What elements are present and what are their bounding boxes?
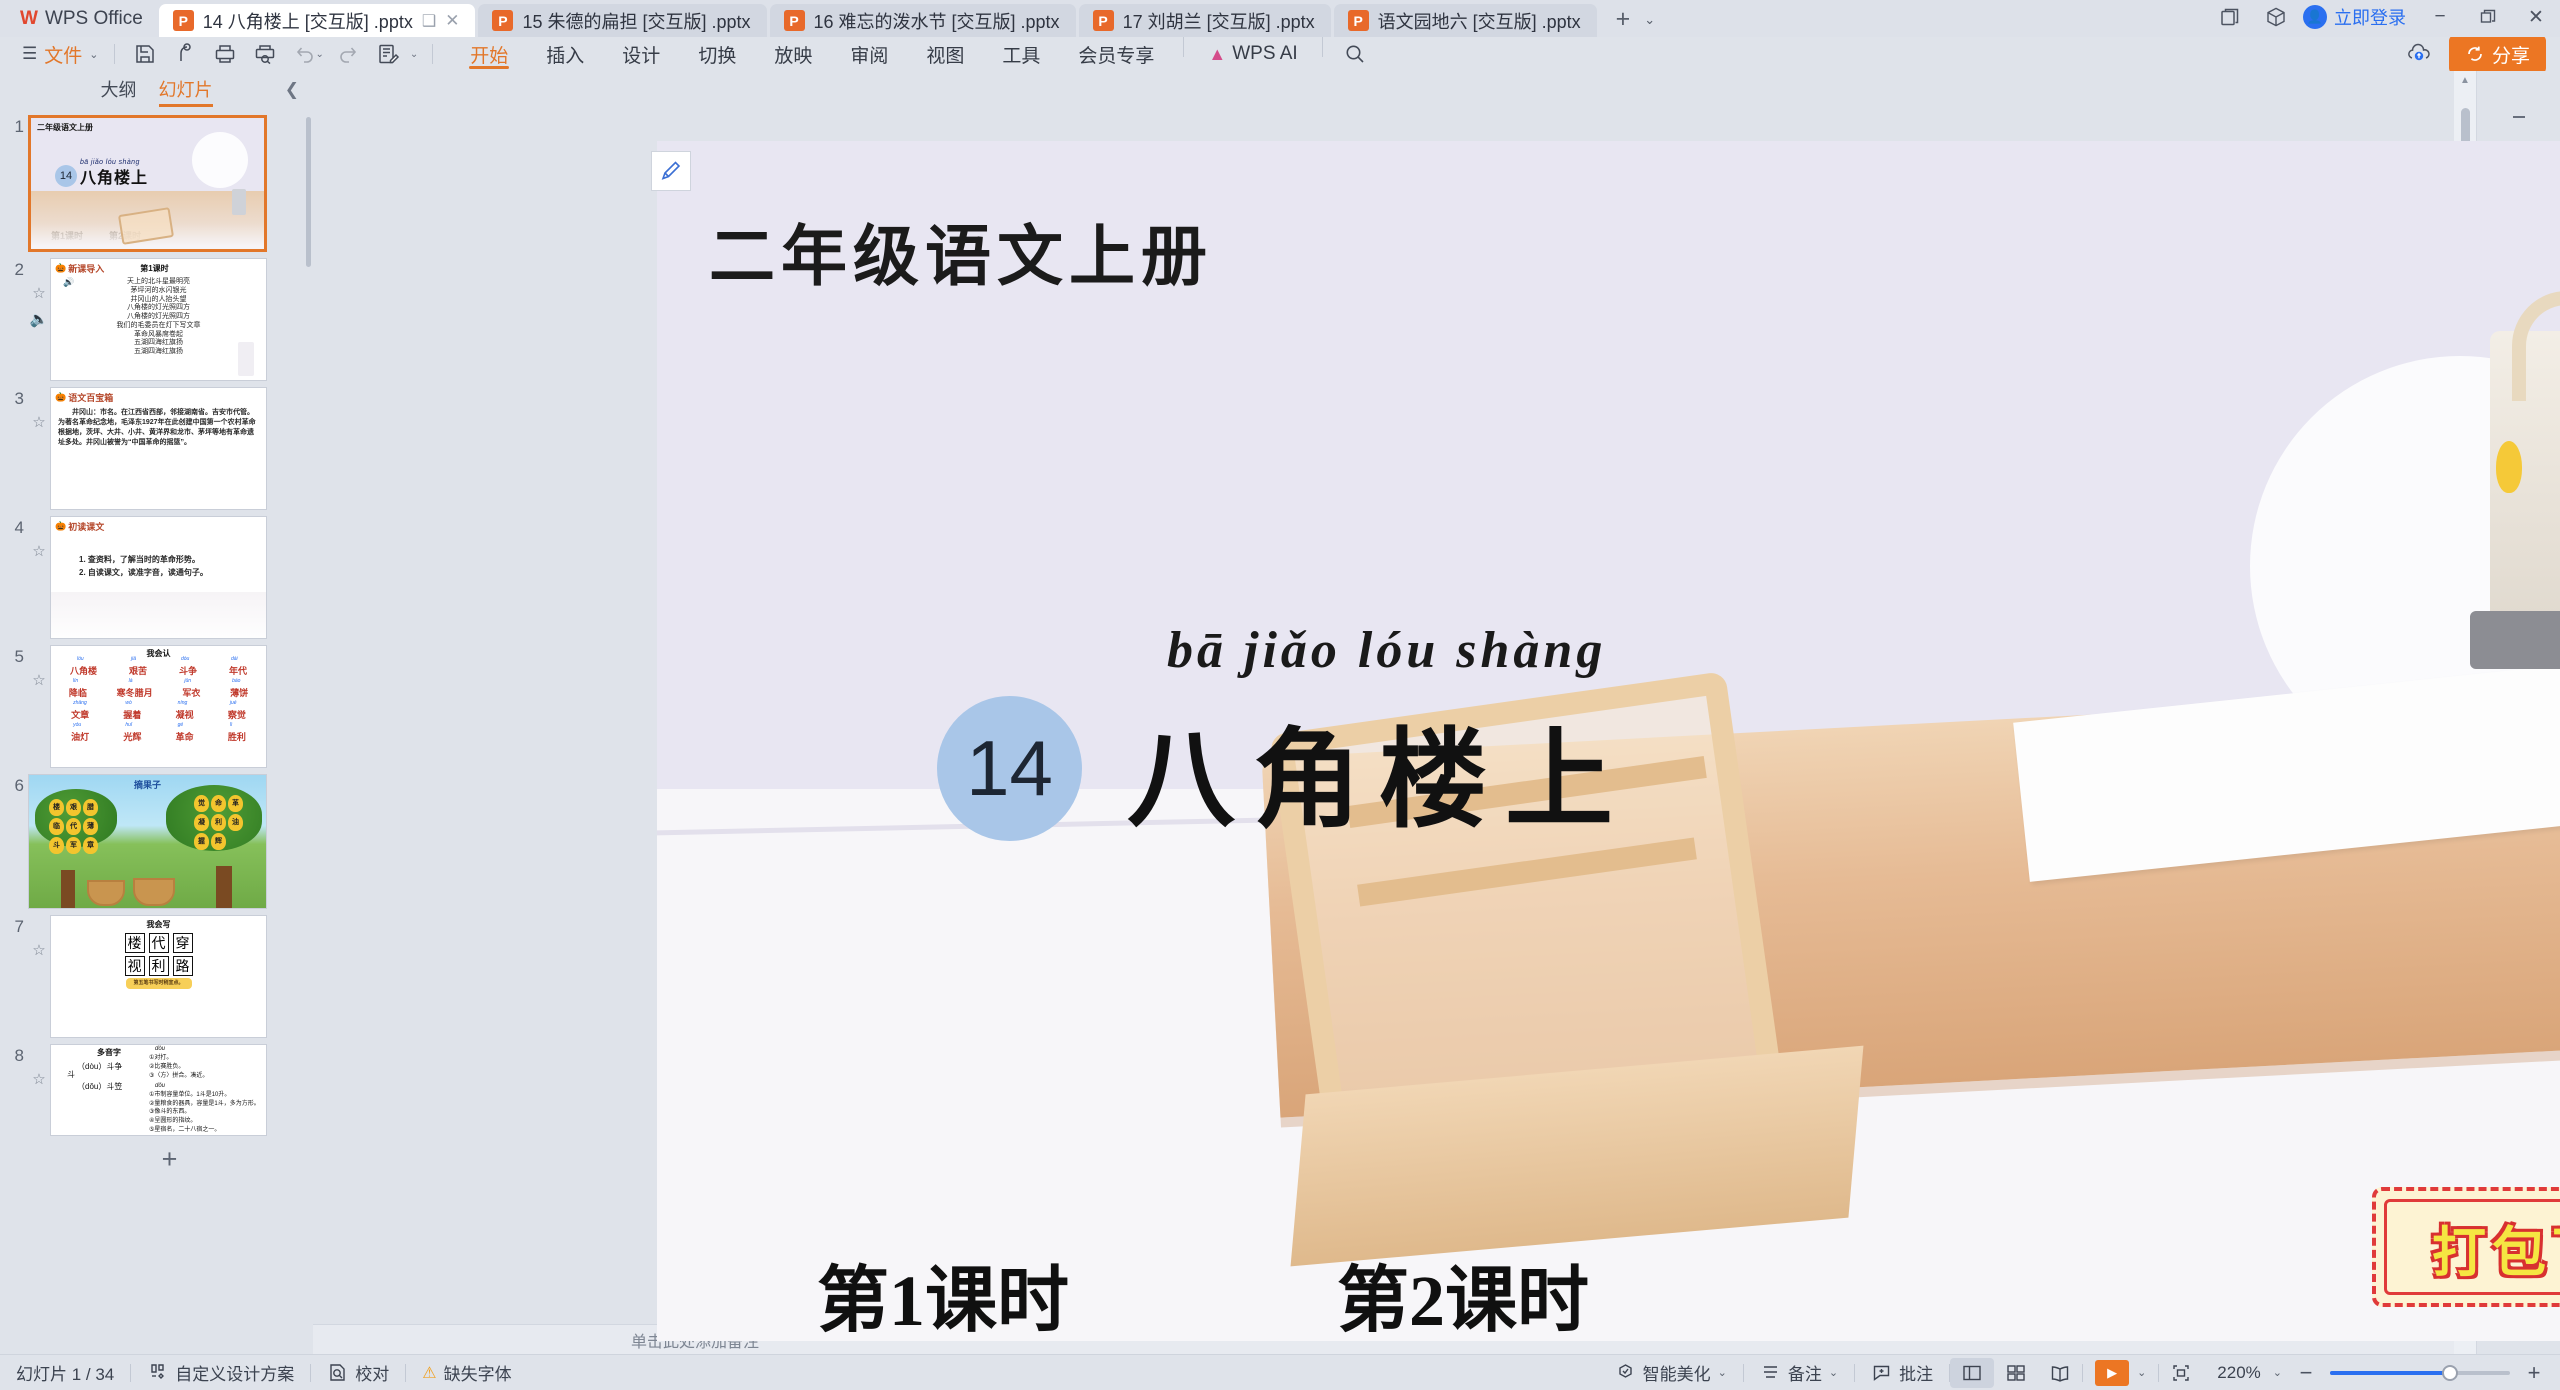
wps-presentation-window: W WPS Office P 14 八角楼上 [交互版] .pptx ❑ ✕ P… xyxy=(0,0,2560,1390)
tab-review[interactable]: 审阅 xyxy=(831,37,907,71)
slide-thumbnail-3[interactable]: 🎃 语文百宝箱 井冈山：市名。在江西省西部，邻接湖南省。吉安市代管。为著名革命纪… xyxy=(50,387,267,510)
lyric-line: 五湖四海红旗扬 xyxy=(55,348,262,357)
chevron-down-icon: ⌄ xyxy=(89,48,98,61)
animation-star-icon[interactable]: ☆ xyxy=(32,941,45,959)
word: 察觉 xyxy=(228,710,246,720)
word: 年代 xyxy=(229,666,247,676)
audio-icon[interactable]: 🔊 xyxy=(63,277,74,288)
fruit[interactable]: 艰 xyxy=(66,799,81,816)
pinyin: gé xyxy=(178,722,184,728)
new-tab-icon[interactable]: + xyxy=(1616,7,1631,32)
def-line: ①对打。 xyxy=(149,1054,208,1063)
reading-view-icon xyxy=(2049,1362,2071,1384)
pinyin: lì xyxy=(230,722,233,728)
notes-icon xyxy=(1760,1362,1781,1383)
share-button[interactable]: 分享 xyxy=(2449,35,2546,74)
slide-number: 7 xyxy=(0,915,28,937)
pinyin: yóu xyxy=(73,722,81,728)
zoom-out-button[interactable]: − xyxy=(2294,1360,2318,1386)
fruit[interactable]: 命 xyxy=(211,795,226,812)
lamp-illustration xyxy=(232,189,246,215)
polyphone-base: 斗 xyxy=(67,1069,75,1080)
audio-icon[interactable]: 🔈 xyxy=(30,310,49,328)
fruit[interactable]: 革 xyxy=(228,795,243,812)
proofread-label: 校对 xyxy=(355,1360,389,1385)
polyphone-reading-2: （dǒu）斗笠 xyxy=(77,1081,122,1092)
word: 握着 xyxy=(123,710,141,720)
ink-pen-icon[interactable] xyxy=(651,151,691,191)
edit-mode-icon[interactable] xyxy=(368,37,408,71)
slide-markers: ☆ xyxy=(28,645,50,689)
save-icon[interactable] xyxy=(125,37,165,71)
list-item[interactable]: 5 ☆ 我会认 lóu八角楼 jiā艰苦 xyxy=(0,645,313,768)
pinyin: jué xyxy=(230,700,237,706)
pinyin: dòu xyxy=(181,656,189,662)
document-tab-5[interactable]: P 语文园地六 [交互版] .pptx xyxy=(1334,4,1597,37)
design-scheme-icon xyxy=(147,1362,168,1383)
slide-thumbnail-2[interactable]: 🎃 新课导入 第1课时 🔊 天上的北斗星最明亮 茅坪河的水闪银光 井冈山的人抬头… xyxy=(50,258,267,381)
fruit[interactable]: 代 xyxy=(66,818,81,835)
tab-slideshow[interactable]: 放映 xyxy=(755,37,831,71)
slide-markers: ☆ xyxy=(28,915,50,959)
lamp-handle xyxy=(2512,291,2560,401)
thumb-header: 新课导入 xyxy=(68,262,104,275)
pinyin: jiā xyxy=(131,656,136,662)
document-tab-4[interactable]: P 17 刘胡兰 [交互版] .pptx xyxy=(1079,4,1331,37)
lyric-line: 八角楼的灯光照四方 xyxy=(55,313,262,322)
document-tab-2[interactable]: P 15 朱德的扁担 [交互版] .pptx xyxy=(478,4,766,37)
comment-label: 批注 xyxy=(1899,1360,1933,1385)
slide-markers: ☆ xyxy=(28,516,50,560)
slide-lesson2-button[interactable]: 第2课时 xyxy=(1337,1241,1589,1341)
fit-to-window-icon xyxy=(2170,1362,2192,1384)
slide-pinyin-text[interactable]: bā jiǎo lóu shàng xyxy=(1167,621,1606,680)
word: 革命 xyxy=(176,732,194,742)
pinyin: jūn xyxy=(184,678,191,684)
slide-thumbnail-6[interactable]: 摘果子 楼 艰 腊 临 代 薄 斗 xyxy=(28,774,267,909)
avatar-icon: 👤 xyxy=(2303,5,2327,29)
status-bar-right: 智能美化 ⌄ 备注 ⌄ 批注 xyxy=(1599,1358,2560,1388)
close-window-button[interactable]: ✕ xyxy=(2512,0,2560,34)
tab-transition[interactable]: 切换 xyxy=(679,37,755,71)
pinyin: dài xyxy=(231,656,238,662)
cloud-upload-icon[interactable] xyxy=(2399,37,2439,71)
powerpoint-icon: P xyxy=(1093,10,1114,31)
chevron-down-icon[interactable]: ⌄ xyxy=(1718,1366,1727,1379)
workspace: 大纲 幻灯片 ❮ 1 二年级语文上册 14 bā jiǎ xyxy=(0,71,2560,1354)
play-slideshow-button[interactable]: ▶ xyxy=(2095,1360,2129,1386)
minimize-window-button[interactable]: − xyxy=(2416,0,2464,34)
document-tab-label: 17 刘胡兰 [交互版] .pptx xyxy=(1123,8,1315,34)
def-line: ③像斗的东西。 xyxy=(149,1108,260,1117)
fruit[interactable]: 觉 xyxy=(194,795,209,812)
comment-add-icon xyxy=(1871,1362,1892,1383)
thumb-header: 二年级语文上册 xyxy=(37,122,93,133)
fruit-group-right: 觉 命 革 凝 利 油 握 辉 xyxy=(194,795,254,850)
powerpoint-icon: P xyxy=(492,10,513,31)
thumb-header: 我会写 xyxy=(55,919,262,930)
slide-thumbnail-4[interactable]: 🎃 初读课文 1. 查资料，了解当时的革命形势。 2. 自读课文，读准字音，读通… xyxy=(50,516,267,639)
collapse-rail-icon[interactable] xyxy=(2491,89,2547,145)
slide-counter: 幻灯片 1 / 34 xyxy=(0,1360,130,1385)
animation-star-icon[interactable]: ☆ xyxy=(32,284,45,302)
slide-number: 4 xyxy=(0,516,28,538)
slides-thumbnail-list[interactable]: 1 二年级语文上册 14 bā jiǎo lóu shàng 八角楼上 第1课时… xyxy=(0,111,313,1354)
slides-panel: 大纲 幻灯片 ❮ 1 二年级语文上册 14 bā jiǎ xyxy=(0,71,313,1354)
thumb-list-item: 1. 查资料，了解当时的革命形势。 xyxy=(79,555,262,565)
ribbon-bar: ☰ 文件 ⌄ xyxy=(0,37,2560,71)
lyric-line: 革命风暴席卷起 xyxy=(55,331,262,340)
tab-start[interactable]: 开始 xyxy=(451,37,527,71)
pinyin: wò xyxy=(125,700,131,706)
pinyin: níng xyxy=(178,700,188,706)
quick-access-toolbar: ☰ 文件 ⌄ xyxy=(0,37,443,71)
fruit-group-left: 楼 艰 腊 临 代 薄 斗 军 章 xyxy=(49,799,109,854)
slide-thumbnail-7[interactable]: 我会写 楼 代 穿 视 利 路 xyxy=(50,915,267,1038)
redo-icon[interactable] xyxy=(328,37,368,71)
close-tab-icon[interactable]: ✕ xyxy=(445,11,459,31)
thumb-body: 井冈山：市名。在江西省西部，邻接湖南省。吉安市代管。为著名革命纪念地，毛泽东19… xyxy=(55,408,262,449)
char-grid-row: 视 利 路 xyxy=(55,956,262,976)
fit-to-window-button[interactable] xyxy=(2159,1358,2203,1388)
fruit[interactable]: 楼 xyxy=(49,799,64,816)
zoom-level-label[interactable]: 220% xyxy=(2217,1363,2260,1383)
moon-decoration xyxy=(192,132,248,188)
pinyin: lóu xyxy=(77,656,84,662)
wps-ai-label: WPS AI xyxy=(1232,43,1297,65)
lamp-watermark xyxy=(238,342,254,376)
slide-markers: ☆ xyxy=(28,1044,50,1088)
magic-wand-icon xyxy=(1615,1362,1636,1383)
polyphone-pinyin-1: dòu xyxy=(155,1046,165,1052)
smart-beautify-label: 智能美化 xyxy=(1643,1360,1711,1385)
slide-thumbnail-1[interactable]: 二年级语文上册 14 bā jiǎo lóu shàng 八角楼上 第1课时 第… xyxy=(28,115,267,252)
proofread-button[interactable]: 校对 xyxy=(311,1360,405,1385)
word-grid: lóu八角楼 jiā艰苦 dòu斗争 dài年代 lín降临 là寒冬腊月 jū… xyxy=(54,661,263,745)
char-cell: 视 xyxy=(125,956,145,976)
ribbon-tabs: 开始 插入 设计 切换 放映 审阅 视图 工具 会员专享 ▲ WPS AI xyxy=(451,37,1376,71)
login-label: 立即登录 xyxy=(2334,4,2406,30)
add-slide-button[interactable]: + xyxy=(0,1142,313,1185)
pinyin: lín xyxy=(73,678,78,684)
lyric-line: 八角楼的灯光照四方 xyxy=(55,304,262,313)
wps-office-label: WPS Office xyxy=(45,8,143,30)
undo-icon[interactable] xyxy=(285,37,325,71)
fruit[interactable]: 斗 xyxy=(49,837,64,854)
tab-insert[interactable]: 插入 xyxy=(527,37,603,71)
word: 艰苦 xyxy=(129,666,147,676)
word: 文章 xyxy=(71,710,89,720)
proofread-icon xyxy=(327,1362,348,1383)
word: 凝视 xyxy=(176,710,194,720)
list-item[interactable]: 4 ☆ 🎃 初读课文 1. 查资料，了解当 xyxy=(0,516,313,639)
polyphone-reading-1: （dòu）斗争 xyxy=(77,1061,122,1072)
powerpoint-icon: P xyxy=(1348,10,1369,31)
tab-view[interactable]: 视图 xyxy=(907,37,983,71)
play-group: ▶ ⌄ xyxy=(2083,1360,2158,1386)
trunk-left xyxy=(61,870,75,908)
print-icon[interactable] xyxy=(205,37,245,71)
divider xyxy=(114,44,115,64)
chevron-left-icon[interactable]: ❮ xyxy=(285,80,299,100)
document-tab-bar: W WPS Office P 14 八角楼上 [交互版] .pptx ❑ ✕ P… xyxy=(0,0,2560,37)
thumb-title: 八角楼上 xyxy=(80,164,148,188)
slide-main-title[interactable]: 八角楼上 xyxy=(1127,693,1631,849)
zoom-control: 220% ⌄ − + xyxy=(2203,1360,2560,1386)
fruit[interactable]: 利 xyxy=(211,814,226,831)
slide-thumbnail-5[interactable]: 我会认 lóu八角楼 jiā艰苦 dòu斗争 dài年代 xyxy=(50,645,267,768)
def-line: ④呈圆形的指纹。 xyxy=(149,1117,260,1126)
divider xyxy=(1183,37,1184,57)
wps-ai-button[interactable]: ▲ WPS AI xyxy=(1194,37,1311,71)
lyric-line: 井冈山的人抬头望 xyxy=(55,296,262,305)
slide-markers: ☆ 🔈 xyxy=(28,258,50,328)
restore-tab-icon[interactable]: ❑ xyxy=(422,11,436,31)
reading-view-button[interactable] xyxy=(2038,1358,2082,1388)
fruit[interactable]: 薄 xyxy=(83,818,98,835)
slide-number: 1 xyxy=(0,115,28,137)
zoom-slider-knob[interactable] xyxy=(2442,1365,2458,1381)
chevron-up-icon[interactable]: ▲ xyxy=(2460,75,2470,86)
char-cell: 利 xyxy=(149,956,169,976)
animation-star-icon[interactable]: ☆ xyxy=(32,671,45,689)
normal-view-button[interactable] xyxy=(1950,1358,1994,1388)
thumb-note: 第五笔书写时稍宜点。 xyxy=(126,978,192,989)
warning-triangle-icon: ⚠ xyxy=(422,1363,436,1383)
slide-number: 3 xyxy=(0,387,28,409)
pinyin: zhāng xyxy=(73,700,87,706)
pinyin: báo xyxy=(232,678,240,684)
fruit[interactable]: 临 xyxy=(49,818,64,835)
polyphone-defs-2: ①市制容量单位。1斗是10升。 ②量粮食的器具，容量是1斗，多为方形。 ③像斗的… xyxy=(149,1091,260,1134)
word: 寒冬腊月 xyxy=(117,688,153,698)
fruit[interactable]: 油 xyxy=(228,814,243,831)
tab-tools[interactable]: 工具 xyxy=(983,37,1059,71)
comment-button[interactable]: 批注 xyxy=(1855,1360,1949,1385)
download-watermark[interactable]: 打包下载 xyxy=(2372,1187,2560,1307)
missing-font-label: 缺失字体 xyxy=(444,1360,512,1385)
list-item[interactable]: 6 摘果子 楼 艰 腊 临 xyxy=(0,774,313,909)
word: 薄饼 xyxy=(230,688,248,698)
lyric-line: 茅坪河的水闪银光 xyxy=(55,287,262,296)
thumb-subheader: 第1课时 xyxy=(140,263,168,274)
word: 降临 xyxy=(69,688,87,698)
def-line: ⑤星宿名，二十八宿之一。 xyxy=(149,1126,260,1135)
polyphone-pinyin-2: dǒu xyxy=(155,1083,165,1089)
list-item[interactable]: 8 ☆ 多音字 斗 （dòu）斗争 （dǒu）斗笠 dòu ①对打。 xyxy=(0,1044,313,1136)
chevron-down-icon[interactable]: ⌄ xyxy=(2273,1366,2282,1379)
document-tab-3[interactable]: P 16 难忘的泼水节 [交互版] .pptx xyxy=(770,4,1076,37)
powerpoint-icon: P xyxy=(784,10,805,31)
slide-counter-label: 幻灯片 1 / 34 xyxy=(16,1360,114,1385)
slide-viewport[interactable]: 二年级语文上册 bā jiǎo lóu shàng 14 八角楼上 第1课时 第… xyxy=(313,71,2454,1324)
chevron-down-icon[interactable]: ⌄ xyxy=(1644,12,1655,28)
fruit[interactable]: 握 xyxy=(194,833,209,850)
print-preview-icon[interactable] xyxy=(245,37,285,71)
zoom-slider-fill xyxy=(2330,1371,2448,1375)
share-label: 分享 xyxy=(2492,41,2530,68)
polyphone-defs-1: ①对打。 ②比赛胜负。 ③〈方〉拼合。凑近。 xyxy=(149,1054,208,1081)
lyric-line: 天上的北斗星最明亮 xyxy=(55,278,262,287)
list-item[interactable]: 7 ☆ 我会写 楼 代 穿 xyxy=(0,915,313,1038)
thumb-list-item: 2. 自读课文，读准字音，读通句子。 xyxy=(79,568,262,578)
fruit[interactable]: 凝 xyxy=(194,814,209,831)
smart-beautify-button[interactable]: 智能美化 ⌄ xyxy=(1599,1360,1743,1385)
tab-slides[interactable]: 幻灯片 xyxy=(159,76,213,106)
ribbon-right-group: 分享 xyxy=(2399,35,2560,74)
word: 油灯 xyxy=(71,732,89,742)
fruit[interactable]: 辉 xyxy=(211,833,226,850)
basket-left xyxy=(87,880,125,906)
word: 胜利 xyxy=(228,732,246,742)
def-line: ③〈方〉拼合。凑近。 xyxy=(149,1072,208,1081)
fruit[interactable]: 腊 xyxy=(83,799,98,816)
slide-number: 8 xyxy=(0,1044,28,1066)
def-line: ①市制容量单位。1斗是10升。 xyxy=(149,1091,260,1100)
slide-sorter-button[interactable] xyxy=(1994,1358,2038,1388)
word: 光辉 xyxy=(123,732,141,742)
slide-lesson-number-badge[interactable]: 14 xyxy=(937,696,1082,841)
list-item[interactable]: 3 ☆ 🎃 语文百宝箱 井冈山：市名。在江西省西部，邻接湖南省。吉安市代管。为著 xyxy=(0,387,313,510)
slide-number: 5 xyxy=(0,645,28,667)
slide-canvas[interactable]: 二年级语文上册 bā jiǎo lóu shàng 14 八角楼上 第1课时 第… xyxy=(657,141,2560,1341)
status-bar: 幻灯片 1 / 34 自定义设计方案 校对 ⚠ 缺失字体 智 xyxy=(0,1354,2560,1390)
def-line: ②量粮食的器具，容量是1斗，多为方形。 xyxy=(149,1100,260,1109)
slide-number: 6 xyxy=(0,774,28,796)
tab-member-exclusive[interactable]: 会员专享 xyxy=(1059,37,1173,71)
section-badge-icon: 🎃 xyxy=(55,521,66,532)
section-badge-icon: 🎃 xyxy=(55,392,66,403)
new-window-icon[interactable] xyxy=(2207,0,2253,34)
trunk-right xyxy=(216,866,232,908)
document-tab-label: 14 八角楼上 [交互版] .pptx xyxy=(203,8,413,34)
lyric-line: 我们的毛委员在灯下写文章 xyxy=(55,322,262,331)
lyrics-block: 天上的北斗星最明亮 茅坪河的水闪银光 井冈山的人抬头望 八角楼的灯光照四方 八角… xyxy=(55,278,262,357)
chevron-down-icon[interactable]: ⌄ xyxy=(2137,1366,2146,1379)
hamburger-icon: ☰ xyxy=(22,44,37,64)
def-line: ②比赛胜负。 xyxy=(149,1063,208,1072)
char-cell: 路 xyxy=(173,956,193,976)
login-button[interactable]: 👤 立即登录 xyxy=(2299,4,2416,30)
section-badge-icon: 🎃 xyxy=(55,263,66,274)
file-menu-button[interactable]: ☰ 文件 ⌄ xyxy=(0,41,104,68)
char-cell: 代 xyxy=(149,933,169,953)
slide-lesson1-button[interactable]: 第1课时 xyxy=(817,1241,1069,1341)
chevron-down-icon[interactable]: ⌄ xyxy=(1829,1366,1838,1379)
window-controls-group: 👤 立即登录 − ✕ xyxy=(2207,0,2560,37)
char-grid-row: 楼 代 穿 xyxy=(55,933,262,953)
flame-illustration xyxy=(2496,441,2522,493)
file-menu-label: 文件 xyxy=(44,41,82,68)
missing-font-warning[interactable]: ⚠ 缺失字体 xyxy=(406,1360,527,1385)
cloud-sync-icon[interactable] xyxy=(165,37,205,71)
divider xyxy=(1322,37,1323,57)
slide-thumbnail-8[interactable]: 多音字 斗 （dòu）斗争 （dǒu）斗笠 dòu ①对打。 ②比赛胜负。 ③〈… xyxy=(50,1044,267,1136)
document-tab-1[interactable]: P 14 八角楼上 [交互版] .pptx ❑ ✕ xyxy=(159,4,476,37)
lyric-line: 五湖四海红旗扬 xyxy=(55,339,262,348)
download-watermark-label: 打包下载 xyxy=(2384,1199,2560,1295)
divider xyxy=(432,44,433,64)
wps-office-logo[interactable]: W WPS Office xyxy=(0,0,159,37)
slide-sorter-icon xyxy=(2005,1362,2027,1384)
list-item[interactable]: 1 二年级语文上册 14 bā jiǎo lóu shàng 八角楼上 第1课时… xyxy=(0,115,313,252)
wps-ai-icon: ▲ xyxy=(1208,44,1226,65)
thumb-header: 多音字 xyxy=(97,1047,121,1058)
slide-header-text[interactable]: 二年级语文上册 xyxy=(709,203,1213,299)
slide-markers: ☆ xyxy=(28,387,50,431)
watermark-illustration xyxy=(51,592,266,638)
design-scheme-button[interactable]: 自定义设计方案 xyxy=(131,1360,310,1385)
slide-number: 2 xyxy=(0,258,28,280)
animation-star-icon[interactable]: ☆ xyxy=(32,1070,45,1088)
list-item[interactable]: 2 ☆ 🔈 🎃 新课导入 第1课时 xyxy=(0,258,313,381)
tab-design[interactable]: 设计 xyxy=(603,37,679,71)
lamp-base xyxy=(2470,611,2560,669)
document-tab-label: 语文园地六 [交互版] .pptx xyxy=(1378,8,1581,34)
search-icon[interactable] xyxy=(1333,37,1377,71)
tab-outline[interactable]: 大纲 xyxy=(101,76,137,106)
animation-star-icon[interactable]: ☆ xyxy=(32,542,45,560)
fruit[interactable]: 军 xyxy=(66,837,81,854)
pinyin: huī xyxy=(125,722,132,728)
tab-bar-controls: + ⌄ xyxy=(1600,7,1670,37)
word: 斗争 xyxy=(179,666,197,676)
slide-editor-area: 二年级语文上册 bā jiǎo lóu shàng 14 八角楼上 第1课时 第… xyxy=(313,71,2454,1354)
zoom-slider[interactable] xyxy=(2330,1371,2510,1375)
basket-right xyxy=(133,878,175,906)
slides-panel-tabs: 大纲 幻灯片 ❮ xyxy=(0,71,313,111)
thumb-lesson-number: 14 xyxy=(55,165,77,187)
notes-label: 备注 xyxy=(1788,1360,1822,1385)
cube-3d-icon[interactable] xyxy=(2253,0,2299,34)
chevron-down-icon[interactable]: ⌄ xyxy=(410,49,418,60)
pinyin: là xyxy=(129,678,133,684)
powerpoint-icon: P xyxy=(173,10,194,31)
restore-window-button[interactable] xyxy=(2464,0,2512,34)
wps-logo-icon: W xyxy=(20,8,36,30)
normal-view-icon xyxy=(1961,1362,1983,1384)
animation-star-icon[interactable]: ☆ xyxy=(32,413,45,431)
notes-toggle-button[interactable]: 备注 ⌄ xyxy=(1744,1360,1854,1385)
zoom-in-button[interactable]: + xyxy=(2522,1360,2546,1386)
document-tab-label: 15 朱德的扁担 [交互版] .pptx xyxy=(522,8,750,34)
design-scheme-label: 自定义设计方案 xyxy=(175,1360,294,1385)
char-cell: 楼 xyxy=(125,933,145,953)
word: 军衣 xyxy=(182,688,200,698)
word: 八角楼 xyxy=(70,666,97,676)
char-cell: 穿 xyxy=(173,933,193,953)
document-tab-label: 16 难忘的泼水节 [交互版] .pptx xyxy=(814,8,1060,34)
thumb-header: 初读课文 xyxy=(68,520,104,533)
fruit[interactable]: 章 xyxy=(83,837,98,854)
thumb-header: 语文百宝箱 xyxy=(68,391,113,404)
